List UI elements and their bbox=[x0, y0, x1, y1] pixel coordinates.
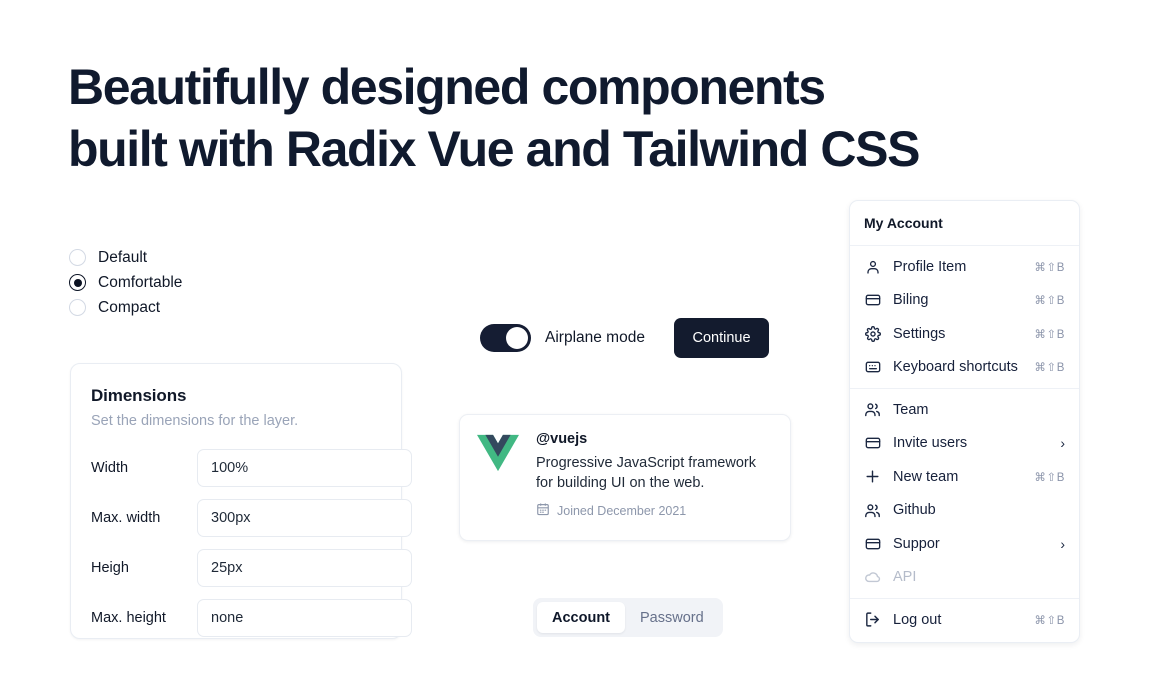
menu-item-github[interactable]: Github bbox=[850, 494, 1079, 528]
menu-item-team[interactable]: Team bbox=[850, 393, 1079, 427]
menu-item-api: API bbox=[850, 561, 1079, 595]
dimension-field-row: Heigh bbox=[91, 549, 381, 587]
menu-separator bbox=[850, 598, 1079, 599]
menu-item-shortcut: ⌘⇧B bbox=[1034, 327, 1065, 341]
chevron-right-icon: › bbox=[1060, 536, 1065, 552]
dimension-field-input[interactable] bbox=[197, 449, 412, 487]
menu-item-shortcut: ⌘⇧B bbox=[1034, 470, 1065, 484]
menu-separator bbox=[850, 388, 1079, 389]
dimension-field-input[interactable] bbox=[197, 499, 412, 537]
credit-card-icon bbox=[864, 292, 881, 309]
dimension-field-row: Max. width bbox=[91, 499, 381, 537]
dimensions-card-title: Dimensions bbox=[91, 386, 381, 406]
menu-item-label: Profile Item bbox=[893, 259, 1034, 275]
hover-card-joined-text: Joined December 2021 bbox=[557, 504, 686, 518]
menu-item-shortcut: ⌘⇧B bbox=[1034, 613, 1065, 627]
radio-option-comfortable[interactable]: Comfortable bbox=[69, 270, 182, 295]
dimensions-card-subtitle: Set the dimensions for the layer. bbox=[91, 413, 381, 429]
dimension-field-label: Heigh bbox=[91, 560, 197, 576]
menu-item-biling[interactable]: Biling⌘⇧B bbox=[850, 284, 1079, 318]
menu-item-label: Team bbox=[893, 402, 1065, 418]
tab-password[interactable]: Password bbox=[625, 602, 719, 633]
dimension-field-input[interactable] bbox=[197, 549, 412, 587]
hover-card-description: Progressive JavaScript framework for bui… bbox=[536, 453, 773, 493]
menu-item-label: Settings bbox=[893, 326, 1034, 342]
dimension-field-row: Max. height bbox=[91, 599, 381, 637]
logout-icon bbox=[864, 611, 881, 628]
airplane-mode-switch[interactable] bbox=[480, 324, 531, 352]
page-title-line-2: built with Radix Vue and Tailwind CSS bbox=[68, 118, 1028, 180]
dimensions-card: Dimensions Set the dimensions for the la… bbox=[70, 363, 402, 639]
switch-knob bbox=[506, 327, 528, 349]
menu-item-profile-item[interactable]: Profile Item⌘⇧B bbox=[850, 250, 1079, 284]
dimension-field-label: Width bbox=[91, 460, 197, 476]
menu-item-label: New team bbox=[893, 469, 1034, 485]
vue-hover-card: @vuejs Progressive JavaScript framework … bbox=[459, 414, 791, 541]
dimension-field-label: Max. height bbox=[91, 610, 197, 626]
credit-card-icon bbox=[864, 535, 881, 552]
menu-item-label: Biling bbox=[893, 292, 1034, 308]
radio-indicator[interactable] bbox=[69, 274, 86, 291]
plus-icon bbox=[864, 468, 881, 485]
page-title-line-1: Beautifully designed components bbox=[68, 56, 1028, 118]
cloud-icon bbox=[864, 569, 881, 586]
credit-card-icon bbox=[864, 435, 881, 452]
radio-option-label: Comfortable bbox=[98, 274, 182, 292]
menu-item-label: Invite users bbox=[893, 435, 1060, 451]
menu-item-keyboard-shortcuts[interactable]: Keyboard shortcuts⌘⇧B bbox=[850, 351, 1079, 385]
hover-card-joined: Joined December 2021 bbox=[536, 502, 773, 519]
page-title: Beautifully designed components built wi… bbox=[68, 56, 1028, 180]
menu-item-shortcut: ⌘⇧B bbox=[1034, 260, 1065, 274]
account-dropdown-menu: My Account Profile Item⌘⇧BBiling⌘⇧BSetti… bbox=[849, 200, 1080, 643]
page-root: Beautifully designed components built wi… bbox=[0, 0, 1152, 700]
menu-item-label: Github bbox=[893, 502, 1065, 518]
dimension-field-input[interactable] bbox=[197, 599, 412, 637]
radio-option-label: Compact bbox=[98, 299, 160, 317]
hover-card-body: @vuejs Progressive JavaScript framework … bbox=[536, 431, 773, 524]
gear-icon bbox=[864, 325, 881, 342]
menu-item-invite-users[interactable]: Invite users› bbox=[850, 427, 1079, 461]
dimensions-field-list: WidthMax. widthHeighMax. height bbox=[91, 449, 381, 637]
menu-item-label: Keyboard shortcuts bbox=[893, 359, 1034, 375]
menu-item-shortcut: ⌘⇧B bbox=[1034, 360, 1065, 374]
airplane-mode-label: Airplane mode bbox=[545, 329, 645, 347]
menu-item-log-out[interactable]: Log out⌘⇧B bbox=[850, 603, 1079, 637]
keyboard-icon bbox=[864, 359, 881, 376]
airplane-mode-row: Airplane mode bbox=[480, 324, 645, 352]
radio-indicator[interactable] bbox=[69, 299, 86, 316]
menu-item-label: Log out bbox=[893, 612, 1034, 628]
menu-item-suppor[interactable]: Suppor› bbox=[850, 527, 1079, 561]
menu-item-label: Suppor bbox=[893, 536, 1060, 552]
dimension-field-row: Width bbox=[91, 449, 381, 487]
calendar-icon bbox=[536, 502, 550, 519]
density-radio-group: DefaultComfortableCompact bbox=[69, 245, 182, 320]
radio-indicator[interactable] bbox=[69, 249, 86, 266]
users-icon bbox=[864, 401, 881, 418]
menu-heading: My Account bbox=[850, 206, 1079, 241]
settings-tabs: AccountPassword bbox=[533, 598, 723, 637]
vue-logo bbox=[477, 434, 519, 472]
chevron-right-icon: › bbox=[1060, 435, 1065, 451]
users-icon bbox=[864, 502, 881, 519]
menu-item-label: API bbox=[893, 569, 1065, 585]
menu-item-settings[interactable]: Settings⌘⇧B bbox=[850, 317, 1079, 351]
radio-option-compact[interactable]: Compact bbox=[69, 295, 182, 320]
menu-item-new-team[interactable]: New team⌘⇧B bbox=[850, 460, 1079, 494]
radio-option-label: Default bbox=[98, 249, 147, 267]
menu-group-list: Profile Item⌘⇧BBiling⌘⇧BSettings⌘⇧BKeybo… bbox=[850, 245, 1079, 637]
hover-card-handle: @vuejs bbox=[536, 431, 773, 447]
dimension-field-label: Max. width bbox=[91, 510, 197, 526]
tab-account[interactable]: Account bbox=[537, 602, 625, 633]
user-icon bbox=[864, 258, 881, 275]
radio-option-default[interactable]: Default bbox=[69, 245, 182, 270]
menu-separator bbox=[850, 245, 1079, 246]
menu-item-shortcut: ⌘⇧B bbox=[1034, 293, 1065, 307]
continue-button[interactable]: Continue bbox=[674, 318, 769, 358]
